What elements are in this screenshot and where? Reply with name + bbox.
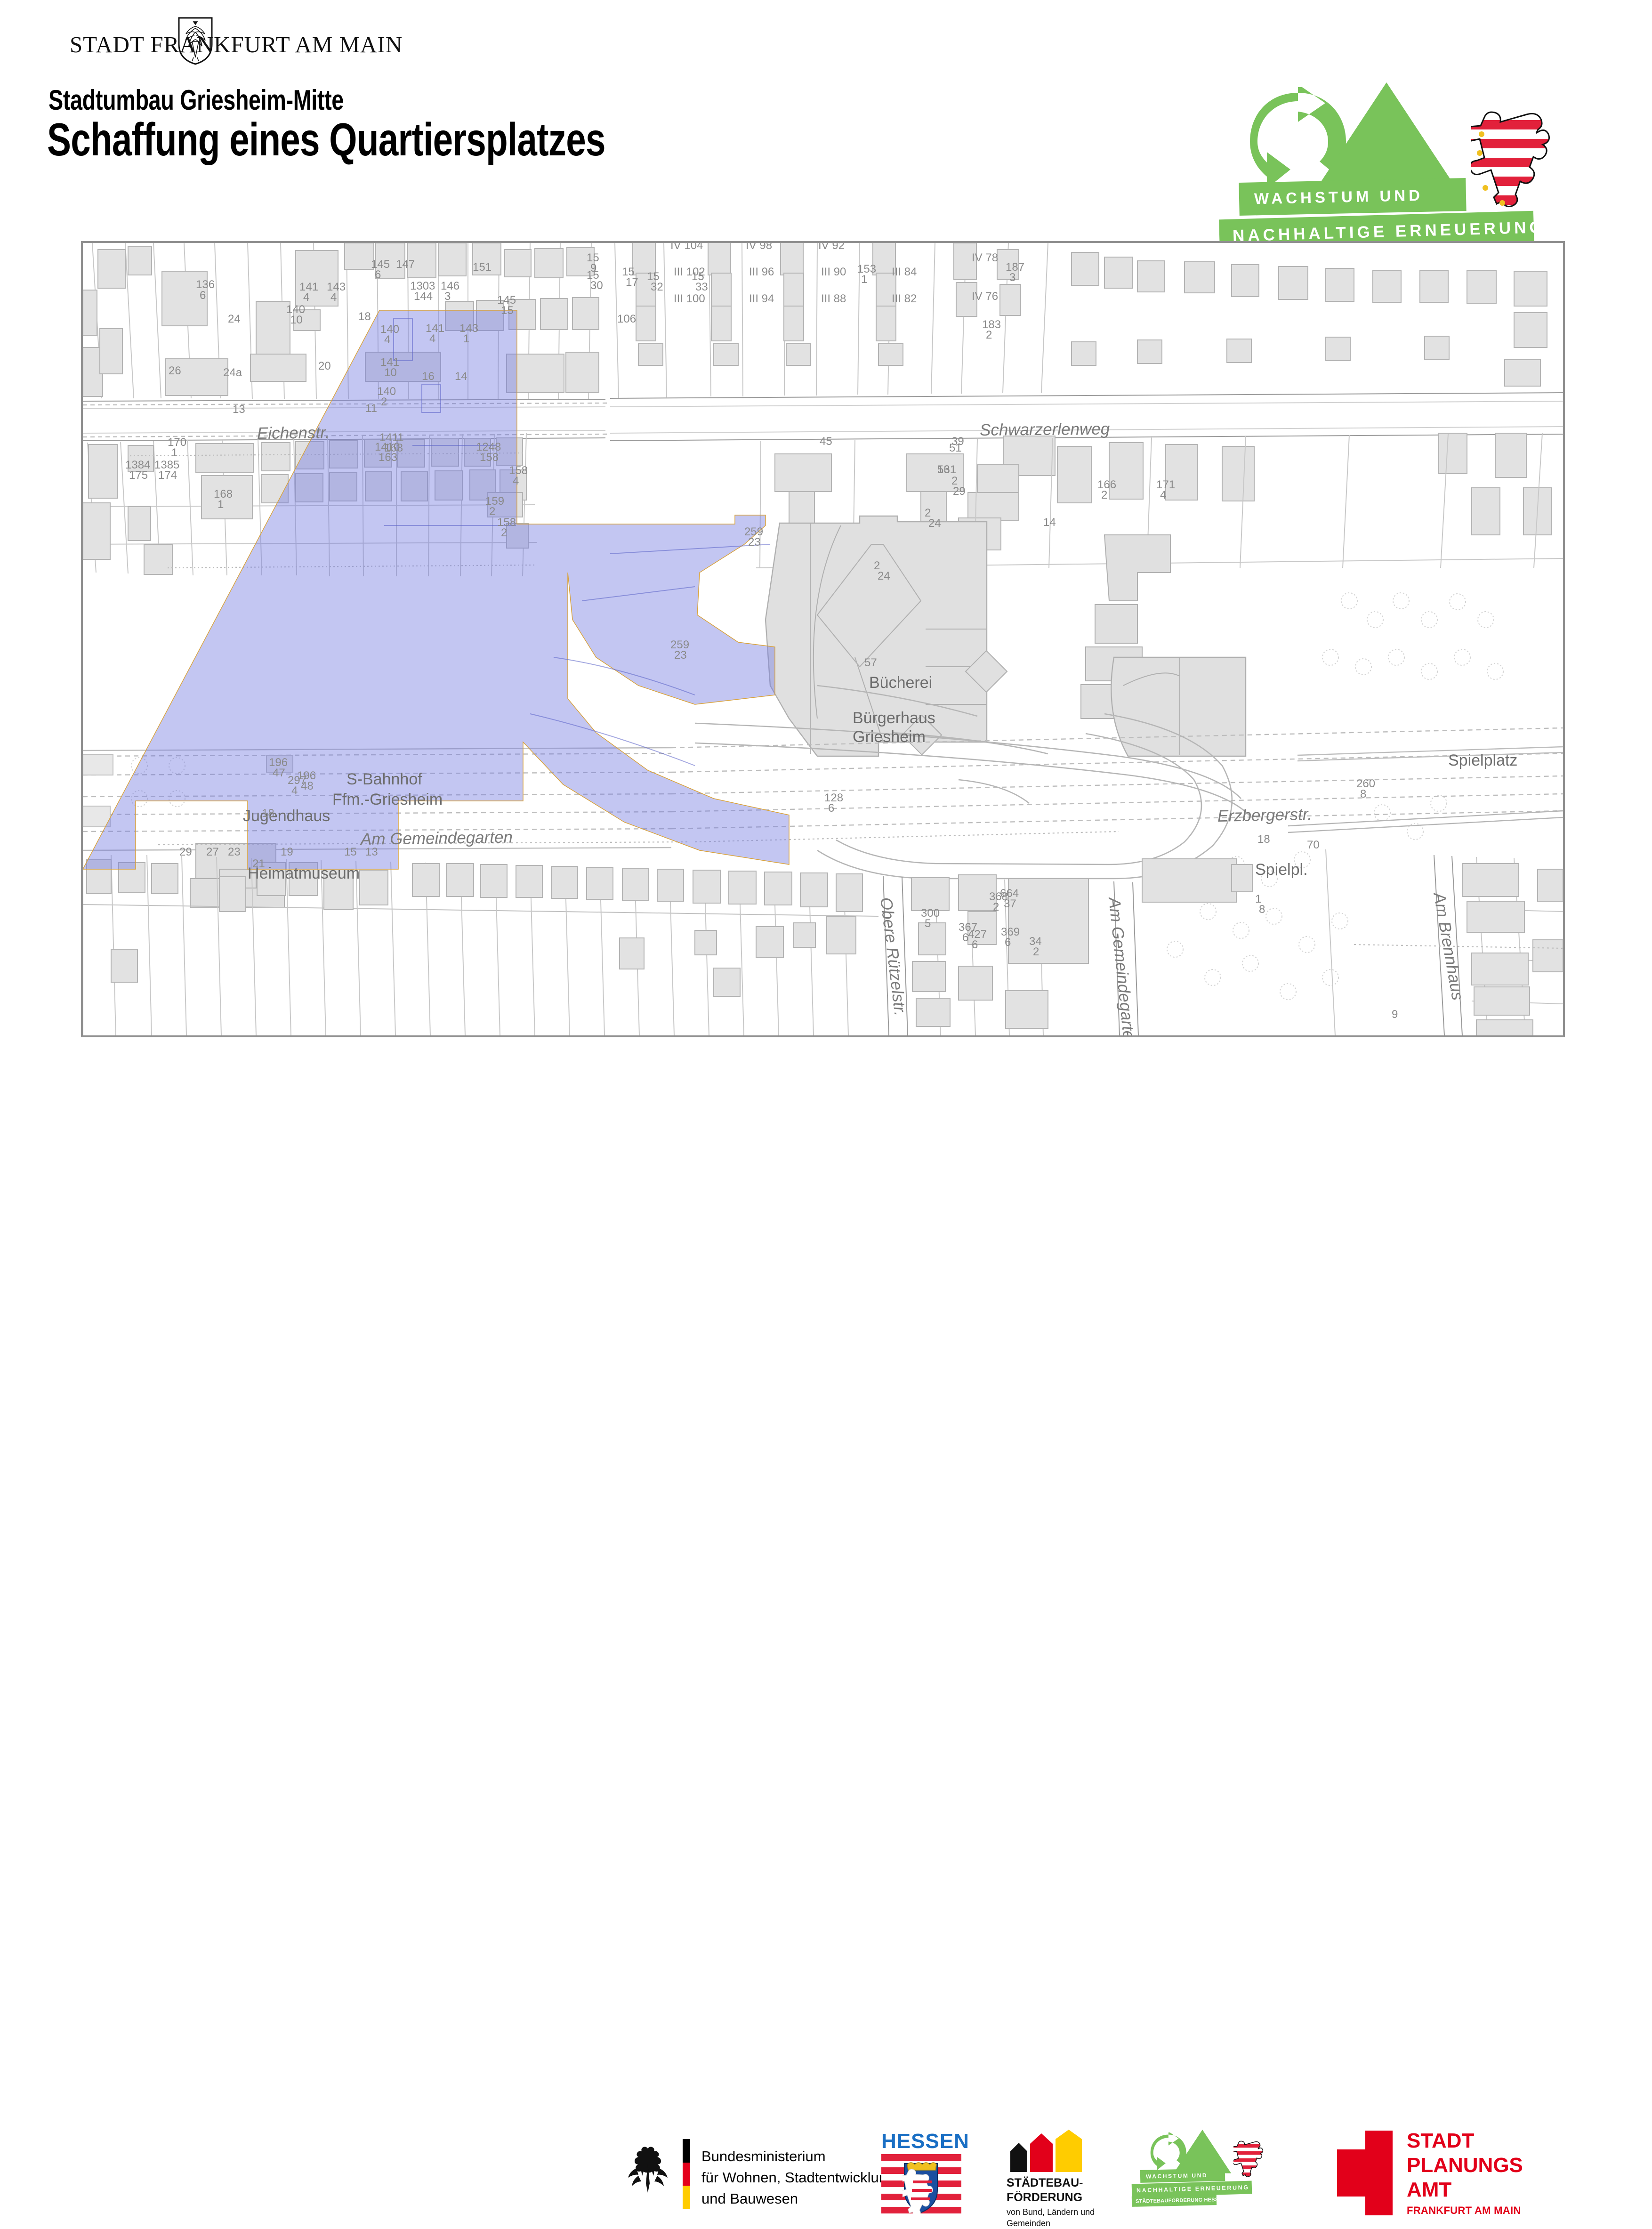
page-header: STADT FRANKFURT AM MAIN Stadtumbau Gries… — [0, 0, 1652, 235]
cadastral-map[interactable]: Eichenstr.SchwarzerlenwegAm Gemeindegart… — [81, 241, 1565, 1037]
bmwsb-line1: Bundesministerium — [701, 2146, 895, 2167]
hessen-coat-of-arms-icon — [903, 2161, 939, 2213]
hessen-flag — [881, 2154, 961, 2219]
hessen-lion-icon — [1471, 110, 1554, 211]
staedtebau-sub1: von Bund, Ländern und — [1007, 2206, 1095, 2218]
staedtebaufoerderung-logo: STÄDTEBAU- FÖRDERUNG von Bund, Ländern u… — [1003, 2130, 1111, 2221]
quartiersplatz-highlight-south — [249, 784, 629, 855]
wachstum-band-line1: WACHSTUM UND — [1239, 178, 1466, 216]
spa-subtitle: FRANKFURT AM MAIN — [1407, 2205, 1521, 2217]
staedtebau-name: STÄDTEBAU- FÖRDERUNG — [1007, 2176, 1083, 2205]
stadtplanungsamt-logo: STADT PLANUNGS AMT FRANKFURT AM MAIN — [1337, 2131, 1582, 2222]
spa-line2: PLANUNGS — [1407, 2153, 1523, 2178]
staedtebau-sub2: Gemeinden — [1007, 2218, 1095, 2229]
spa-line1: STADT — [1407, 2129, 1523, 2153]
footer-logo-bar: Bundesministerium für Wohnen, Stadtentwi… — [0, 1062, 1652, 1168]
hessen-label: HESSEN — [881, 2130, 969, 2153]
bmwsb-line2: für Wohnen, Stadtentwicklung — [701, 2167, 895, 2188]
hessen-lion-icon-small — [1233, 2140, 1265, 2179]
bmwsb-logo: Bundesministerium für Wohnen, Stadtentwi… — [626, 2139, 890, 2210]
hessen-logo: HESSEN — [880, 2130, 975, 2219]
three-houses-icon — [1008, 2130, 1084, 2172]
german-flag-bar — [683, 2139, 690, 2209]
city-of-frankfurt-logo: STADT FRANKFURT AM MAIN — [70, 23, 390, 60]
staedtebau-subtitle: von Bund, Ländern und Gemeinden — [1007, 2206, 1095, 2229]
staedtebau-line2: FÖRDERUNG — [1007, 2190, 1083, 2205]
bmwsb-line3: und Bauwesen — [701, 2188, 895, 2209]
stadtplanungsamt-mark-icon — [1337, 2131, 1393, 2215]
page-title: Schaffung eines Quartiersplatzes — [47, 113, 605, 166]
wachstum-logo-small: WACHSTUM UND NACHHALTIGE ERNEUERUNG STÄD… — [1139, 2132, 1295, 2223]
wachstum-small-line1: WACHSTUM UND — [1140, 2168, 1225, 2183]
map-canvas — [83, 243, 1563, 1035]
wachstum-small-line3: STÄDTEBAUFÖRDERUNG HESSEN — [1132, 2195, 1217, 2207]
city-logo-wordmark: STADT FRANKFURT AM MAIN — [70, 31, 390, 59]
staedtebau-line1: STÄDTEBAU- — [1007, 2176, 1083, 2190]
federal-eagle-icon — [626, 2145, 669, 2195]
spa-line3: AMT — [1407, 2178, 1523, 2202]
stadtplanungsamt-name: STADT PLANUNGS AMT — [1407, 2129, 1523, 2202]
bmwsb-name: Bundesministerium für Wohnen, Stadtentwi… — [701, 2146, 895, 2209]
page-subtitle: Stadtumbau Griesheim-Mitte — [48, 84, 344, 116]
